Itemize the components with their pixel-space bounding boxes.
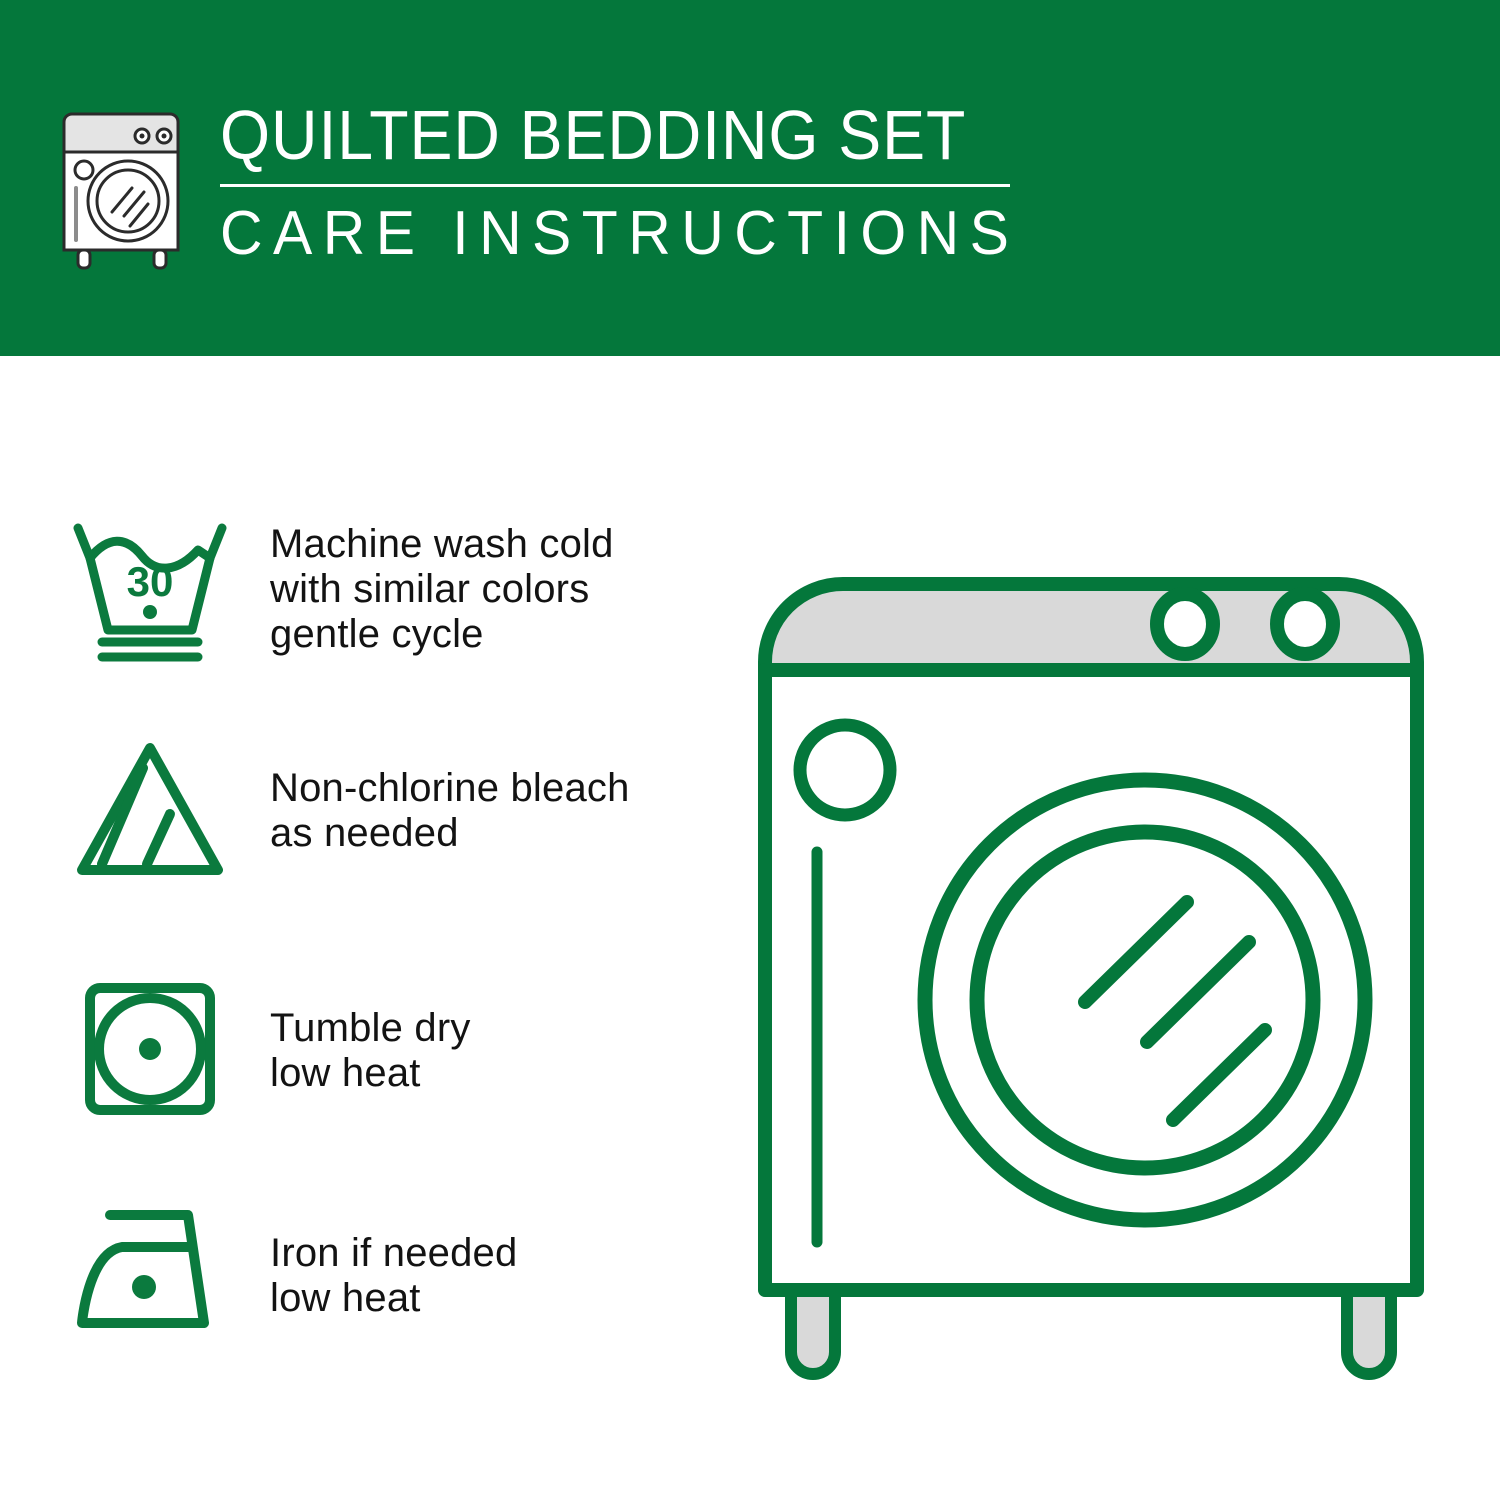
care-instructions-list: 30 Machine wash cold with similar colors…	[0, 356, 720, 1500]
non-chlorine-bleach-triangle-icon	[70, 736, 230, 886]
wash-temperature-value: 30	[127, 558, 174, 605]
care-item-label: Machine wash cold with similar colors ge…	[270, 522, 614, 657]
iron-low-heat-icon	[70, 1201, 230, 1351]
drum-inner-ring	[977, 832, 1313, 1168]
front-load-washing-machine-illustration	[735, 490, 1455, 1420]
care-item-iron: Iron if needed low heat	[70, 1201, 517, 1351]
page-subtitle: CARE INSTRUCTIONS	[220, 199, 1019, 269]
control-knob-right[interactable]	[1277, 594, 1333, 654]
care-item-label: Iron if needed low heat	[270, 1231, 517, 1321]
page-title: QUILTED BEDDING SET	[220, 96, 994, 174]
care-item-label: Non-chlorine bleach as needed	[270, 766, 630, 856]
header-band: QUILTED BEDDING SET CARE INSTRUCTIONS	[0, 0, 1500, 356]
care-item-bleach: Non-chlorine bleach as needed	[70, 736, 630, 886]
tumble-dry-low-icon	[70, 976, 230, 1126]
care-item-machine-wash: 30 Machine wash cold with similar colors…	[70, 514, 614, 664]
care-item-tumble-dry: Tumble dry low heat	[70, 976, 471, 1126]
control-knob-left[interactable]	[1157, 594, 1213, 654]
header-text-block: QUILTED BEDDING SET CARE INSTRUCTIONS	[220, 96, 1061, 269]
header-divider	[220, 184, 1010, 187]
washing-machine-icon	[62, 104, 192, 276]
wash-tub-30-gentle-icon: 30	[70, 514, 230, 664]
header-content: QUILTED BEDDING SET CARE INSTRUCTIONS	[62, 96, 1061, 276]
detergent-port-icon	[800, 725, 890, 815]
care-item-label: Tumble dry low heat	[270, 1006, 471, 1096]
